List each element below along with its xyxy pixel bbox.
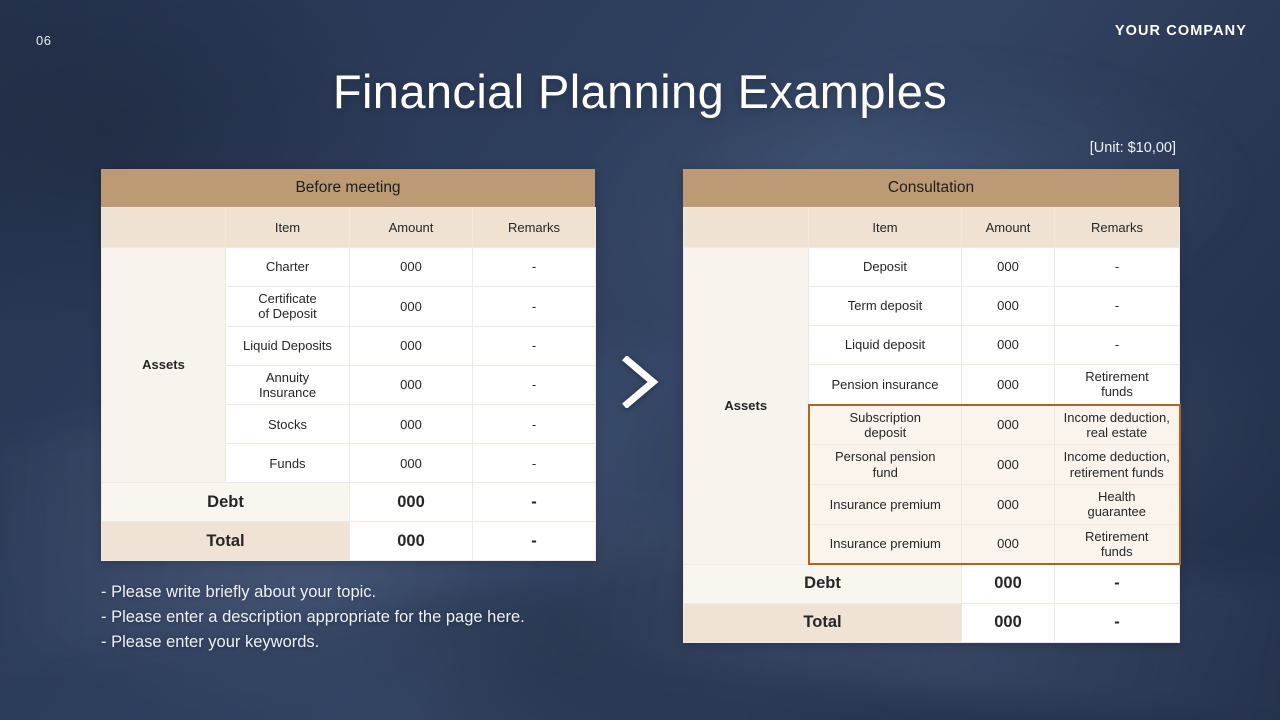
cell-amount: 000 (962, 484, 1055, 524)
cell-item: Insurance premium (809, 524, 962, 564)
note-line: - Please enter a description appropriate… (101, 605, 525, 630)
summary-row-debt: Debt 000 - (102, 483, 596, 522)
table-header-row: Item Amount Remarks (102, 208, 596, 248)
cell-remarks-line1: Retirement (1058, 529, 1176, 544)
note-line: - Please enter your keywords. (101, 630, 525, 655)
category-label-assets: Assets (684, 248, 809, 565)
table-row: Assets Charter 000 - (102, 248, 596, 287)
summary-row-debt: Debt 000 - (684, 564, 1180, 603)
cell-remarks-line1: Income deduction, (1058, 410, 1176, 425)
notes-block: - Please write briefly about your topic.… (101, 580, 525, 655)
chevron-right-icon (617, 356, 663, 408)
summary-row-total: Total 000 - (102, 522, 596, 561)
cell-remarks: - (1055, 287, 1180, 326)
cell-remarks: - (1055, 248, 1180, 287)
before-meeting-table: Before meeting Item Amount Remarks Asset… (101, 169, 595, 561)
cell-amount: 000 (962, 287, 1055, 326)
cell-item: Term deposit (809, 287, 962, 326)
consultation-table-grid: Item Amount Remarks Assets Deposit 000 -… (683, 207, 1181, 643)
cell-item: Funds (226, 444, 350, 483)
cell-remarks-line1: Income deduction, (1058, 449, 1176, 464)
cell-item: Pension insurance (809, 365, 962, 405)
cell-remarks: - (1055, 326, 1180, 365)
cell-item: Liquid deposit (809, 326, 962, 365)
header-amount: Amount (962, 208, 1055, 248)
cell-amount: 000 (350, 405, 473, 444)
cell-remarks: Income deduction, retirement funds (1055, 445, 1180, 485)
summary-label: Total (684, 603, 962, 642)
cell-amount: 000 (962, 365, 1055, 405)
cell-amount: 000 (350, 444, 473, 483)
cell-item: Subscription deposit (809, 405, 962, 445)
cell-amount: 000 (962, 248, 1055, 287)
cell-remarks: Retirement funds (1055, 365, 1180, 405)
cell-item-line1: Certificate (229, 291, 346, 306)
cell-item: Annuity Insurance (226, 365, 350, 405)
cell-item-line1: Personal pension (813, 449, 959, 464)
cell-item: Certificate of Deposit (226, 287, 350, 327)
category-label-assets: Assets (102, 248, 226, 483)
consultation-table-title: Consultation (683, 169, 1179, 207)
summary-amount: 000 (962, 564, 1055, 603)
cell-amount: 000 (350, 248, 473, 287)
summary-amount: 000 (350, 522, 473, 561)
table-header-row: Item Amount Remarks (684, 208, 1180, 248)
cell-remarks-line2: funds (1058, 544, 1176, 559)
summary-remarks: - (473, 522, 596, 561)
cell-item: Stocks (226, 405, 350, 444)
cell-remarks-line2: guarantee (1058, 504, 1176, 519)
cell-item-line1: Subscription (813, 410, 959, 425)
header-item: Item (226, 208, 350, 248)
cell-item: Insurance premium (809, 484, 962, 524)
cell-remarks-line2: funds (1058, 384, 1176, 399)
summary-remarks: - (1055, 603, 1180, 642)
cell-item-line2: deposit (813, 425, 959, 440)
cell-remarks: - (473, 444, 596, 483)
header-amount: Amount (350, 208, 473, 248)
summary-amount: 000 (350, 483, 473, 522)
cell-item: Liquid Deposits (226, 326, 350, 365)
cell-remarks: - (473, 248, 596, 287)
cell-item-line1: Annuity (229, 370, 346, 385)
cell-remarks-line1: Retirement (1058, 369, 1176, 384)
header-remarks: Remarks (1055, 208, 1180, 248)
summary-amount: 000 (962, 603, 1055, 642)
cell-item-line2: Insurance (229, 385, 346, 400)
header-remarks: Remarks (473, 208, 596, 248)
cell-amount: 000 (350, 326, 473, 365)
note-line: - Please write briefly about your topic. (101, 580, 525, 605)
cell-remarks-line2: real estate (1058, 425, 1176, 440)
cell-amount: 000 (962, 445, 1055, 485)
unit-note: [Unit: $10,00] (1090, 140, 1176, 156)
before-table-grid: Item Amount Remarks Assets Charter 000 -… (101, 207, 596, 561)
cell-amount: 000 (350, 365, 473, 405)
cell-item: Deposit (809, 248, 962, 287)
cell-remarks: - (473, 365, 596, 405)
cell-item: Charter (226, 248, 350, 287)
summary-remarks: - (473, 483, 596, 522)
cell-remarks: Retirement funds (1055, 524, 1180, 564)
cell-remarks-line2: retirement funds (1058, 465, 1176, 480)
cell-amount: 000 (962, 405, 1055, 445)
summary-label: Debt (684, 564, 962, 603)
header-corner-cell (684, 208, 809, 248)
page-number: 06 (36, 33, 51, 48)
company-label: YOUR COMPANY (1115, 23, 1247, 39)
cell-remarks: - (473, 405, 596, 444)
cell-remarks-line1: Health (1058, 489, 1176, 504)
cell-amount: 000 (962, 326, 1055, 365)
before-table-title: Before meeting (101, 169, 595, 207)
cell-amount: 000 (962, 524, 1055, 564)
cell-remarks: - (473, 326, 596, 365)
cell-amount: 000 (350, 287, 473, 327)
cell-remarks: Health guarantee (1055, 484, 1180, 524)
cell-item: Personal pension fund (809, 445, 962, 485)
cell-item-line2: fund (813, 465, 959, 480)
table-row: Assets Deposit 000 - (684, 248, 1180, 287)
cell-remarks: Income deduction, real estate (1055, 405, 1180, 445)
header-corner-cell (102, 208, 226, 248)
cell-item-line2: of Deposit (229, 306, 346, 321)
summary-label: Total (102, 522, 350, 561)
page-title: Financial Planning Examples (0, 64, 1280, 119)
summary-remarks: - (1055, 564, 1180, 603)
cell-remarks: - (473, 287, 596, 327)
consultation-table: Consultation Item Amount Remarks Assets … (683, 169, 1179, 643)
summary-label: Debt (102, 483, 350, 522)
summary-row-total: Total 000 - (684, 603, 1180, 642)
header-item: Item (809, 208, 962, 248)
